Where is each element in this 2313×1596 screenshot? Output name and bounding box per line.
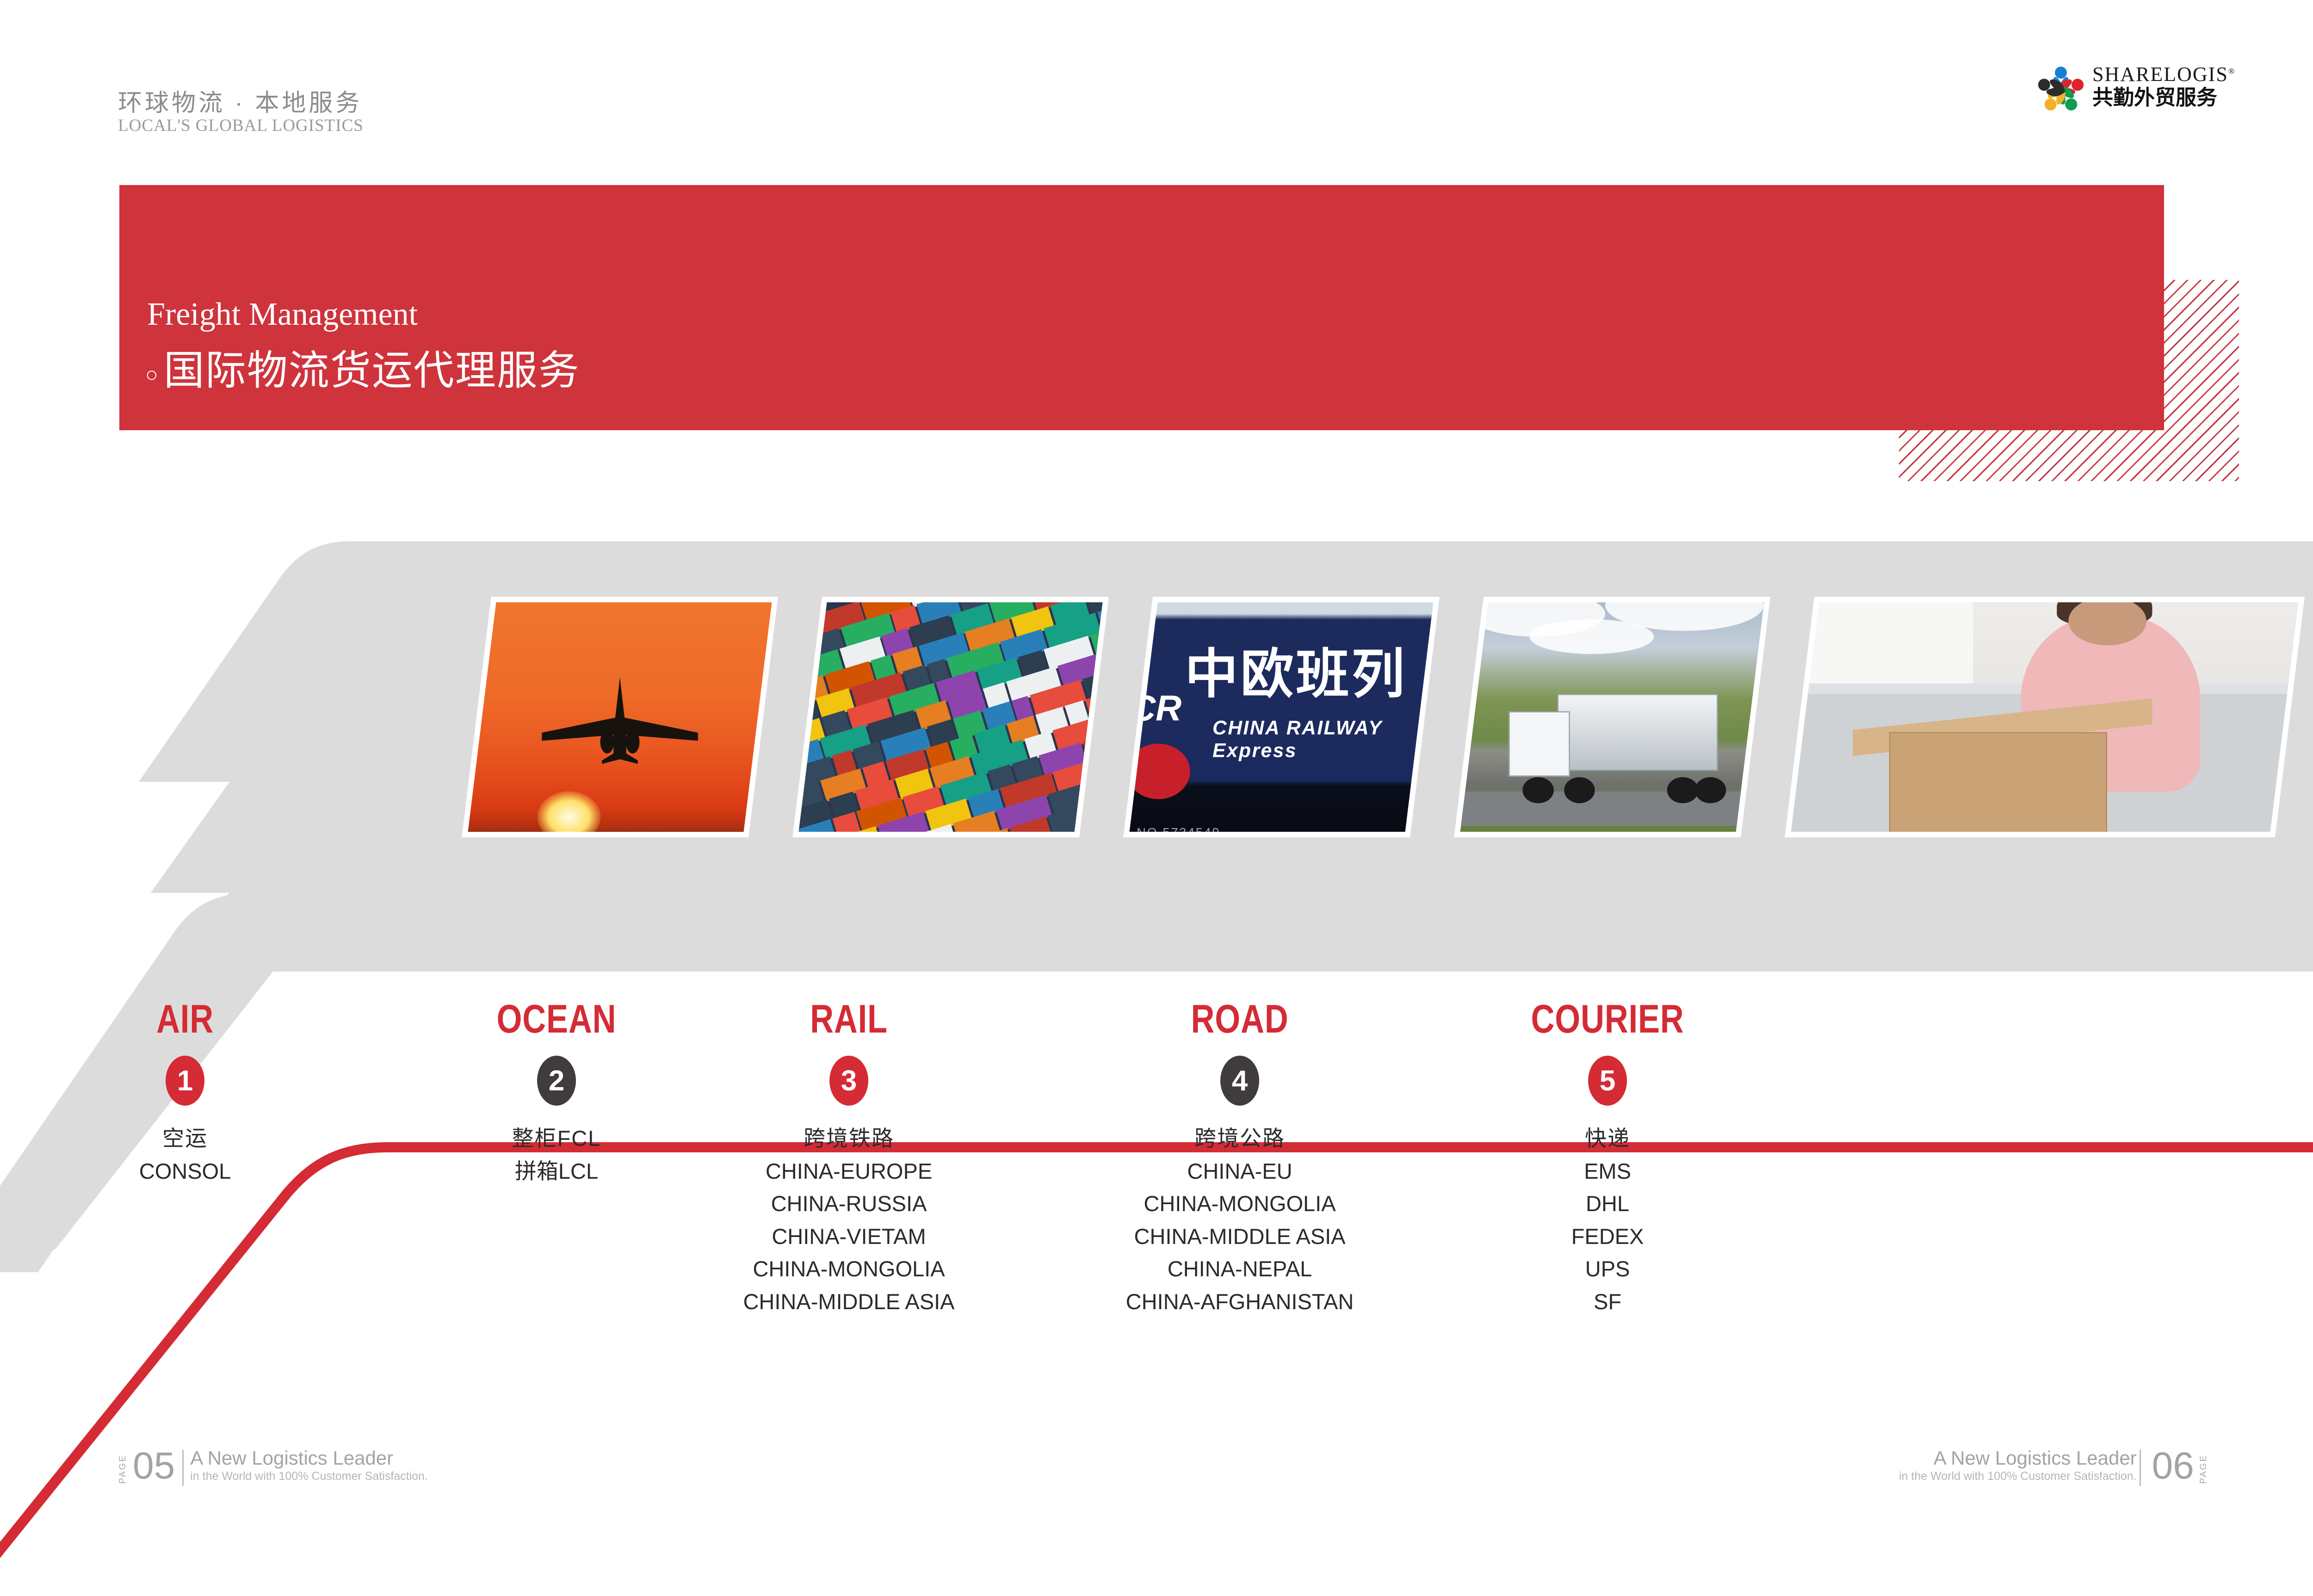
- column-items: 空运 CONSOL: [0, 1122, 393, 1188]
- footer-tagline-primary-right: A New Logistics Leader: [1899, 1448, 2137, 1468]
- step-badge-2[interactable]: 2: [537, 1056, 576, 1106]
- section-title-en: Freight Management: [147, 296, 418, 333]
- page-label-right: PAGE: [2199, 1454, 2209, 1484]
- airplane-icon: [525, 677, 716, 764]
- column-title: ROAD: [1069, 999, 1410, 1039]
- list-item: CHINA-MIDDLE ASIA: [641, 1286, 1057, 1318]
- column-title: RAIL: [678, 999, 1020, 1039]
- logo-wordmark-cn: 共勤外贸服务: [2092, 87, 2235, 109]
- column-items: 跨境铁路 CHINA-EUROPE CHINA-RUSSIA CHINA-VIE…: [641, 1122, 1057, 1318]
- list-item: 跨境铁路: [641, 1122, 1057, 1155]
- list-item: EMS: [1399, 1155, 1816, 1188]
- column-title: AIR: [14, 999, 356, 1039]
- list-item: FEDEX: [1399, 1220, 1816, 1253]
- footer-tagline-secondary-left: in the World with 100% Customer Satisfac…: [190, 1470, 428, 1483]
- photo-road: [1454, 597, 1770, 837]
- list-item: CHINA-RUSSIA: [641, 1188, 1057, 1220]
- column-title: COURIER: [1437, 999, 1778, 1039]
- list-item: UPS: [1399, 1253, 1816, 1286]
- timeline-column-air[interactable]: AIR 1 空运 CONSOL: [0, 999, 393, 1188]
- logo-wordmark: SHARELOGIS®: [2092, 64, 2235, 85]
- photo-rail: 中欧班列 CR CHINA RAILWAY Express NO.5734549: [1123, 597, 1440, 837]
- sharelogis-people-icon: [2033, 62, 2089, 117]
- transport-photo-strip: 中欧班列 CR CHINA RAILWAY Express NO.5734549: [0, 597, 2313, 847]
- page-number-right: 06: [2152, 1448, 2194, 1484]
- company-logo: SHARELOGIS® 共勤外贸服务: [2033, 62, 2227, 118]
- rail-container-number: NO.5734549: [1137, 825, 1220, 832]
- footer-tagline-primary-left: A New Logistics Leader: [190, 1448, 428, 1468]
- page-label-left: PAGE: [118, 1454, 128, 1484]
- section-title-cn: ○国际物流货运代理服务: [145, 338, 580, 396]
- list-item: 空运: [0, 1122, 393, 1155]
- list-item: CHINA-EUROPE: [641, 1155, 1057, 1188]
- footer-divider-right: [2140, 1450, 2141, 1486]
- timeline-column-rail[interactable]: RAIL 3 跨境铁路 CHINA-EUROPE CHINA-RUSSIA CH…: [641, 999, 1057, 1318]
- step-badge-4[interactable]: 4: [1220, 1056, 1259, 1106]
- registered-mark: ®: [2228, 66, 2236, 75]
- rail-container-text-en: CHINA RAILWAY Express: [1212, 717, 1433, 762]
- cr-logo-badge: [1130, 743, 1190, 799]
- footer-right: A New Logistics Leader in the World with…: [1899, 1448, 2209, 1596]
- footer-tagline-secondary-right: in the World with 100% Customer Satisfac…: [1899, 1470, 2137, 1483]
- timeline-column-road[interactable]: ROAD 4 跨境公路 CHINA-EU CHINA-MONGOLIA CHIN…: [1032, 999, 1448, 1318]
- circle-bullet-icon: ○: [145, 362, 159, 386]
- brand-tagline-cn: 环球物流 · 本地服务: [118, 83, 362, 118]
- footer-divider-left: [182, 1450, 184, 1486]
- list-item: 跨境公路: [1032, 1122, 1448, 1155]
- step-badge-1[interactable]: 1: [166, 1056, 204, 1106]
- step-badge-3[interactable]: 3: [829, 1056, 868, 1106]
- rail-container-cr: CR: [1130, 688, 1181, 730]
- photo-air: [462, 597, 778, 837]
- list-item: CHINA-MONGOLIA: [1032, 1188, 1448, 1220]
- slide-canvas: 环球物流 · 本地服务 LOCAL'S GLOBAL LOGISTICS: [0, 0, 2313, 1596]
- list-item: DHL: [1399, 1188, 1816, 1220]
- photo-courier: [1785, 597, 2305, 837]
- list-item: CHINA-NEPAL: [1032, 1253, 1448, 1286]
- page-number-left: 05: [133, 1448, 175, 1484]
- footer-left: PAGE 05 A New Logistics Leader in the Wo…: [118, 1448, 428, 1596]
- photo-ocean: [792, 597, 1109, 837]
- list-item: SF: [1399, 1286, 1816, 1318]
- section-title-banner: Freight Management ○国际物流货运代理服务: [119, 185, 2164, 430]
- list-item: CHINA-MIDDLE ASIA: [1032, 1220, 1448, 1253]
- list-item: CHINA-EU: [1032, 1155, 1448, 1188]
- column-items: 快递 EMS DHL FEDEX UPS SF: [1399, 1122, 1816, 1318]
- timeline-column-courier[interactable]: COURIER 5 快递 EMS DHL FEDEX UPS SF: [1399, 999, 1816, 1318]
- list-item: CONSOL: [0, 1155, 393, 1188]
- list-item: 快递: [1399, 1122, 1816, 1155]
- brand-tagline-en: LOCAL'S GLOBAL LOGISTICS: [118, 116, 364, 136]
- rail-container-text-cn: 中欧班列: [1185, 631, 1407, 708]
- list-item: CHINA-AFGHANISTAN: [1032, 1286, 1448, 1318]
- list-item: CHINA-MONGOLIA: [641, 1253, 1057, 1286]
- step-badge-5[interactable]: 5: [1588, 1056, 1627, 1106]
- column-items: 跨境公路 CHINA-EU CHINA-MONGOLIA CHINA-MIDDL…: [1032, 1122, 1448, 1318]
- list-item: CHINA-VIETAM: [641, 1220, 1057, 1253]
